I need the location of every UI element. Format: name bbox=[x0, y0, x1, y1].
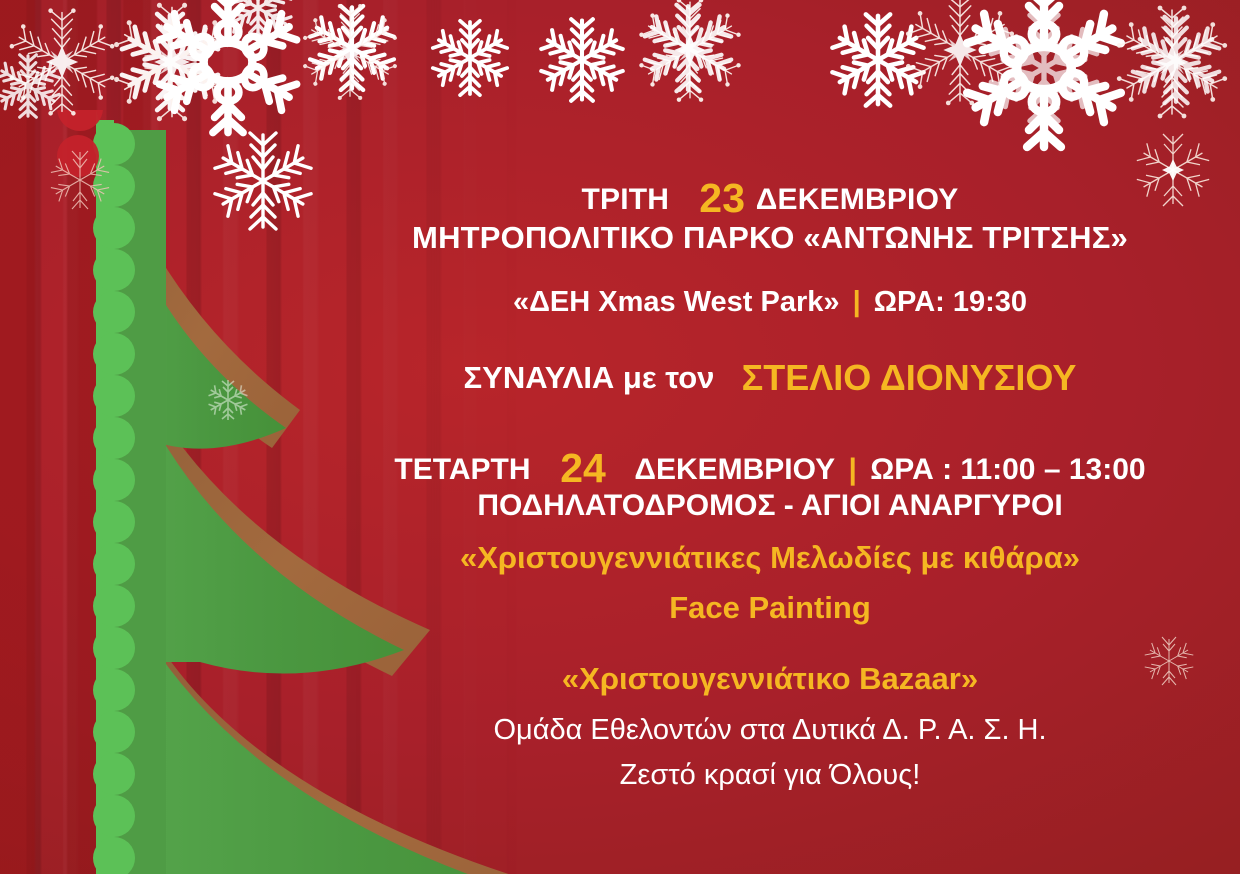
poster-text-block: ΤΡΙΤΗ 23 ΔΕΚΕΜΒΡΙΟΥ ΜΗΤΡΟΠΟΛΙΤΙΚΟ ΠΑΡΚΟ … bbox=[330, 0, 1210, 874]
event1-day-label: ΤΡΙΤΗ bbox=[582, 183, 670, 216]
snowflake-icon-tree-top bbox=[198, 126, 328, 241]
event1-separator: | bbox=[848, 286, 866, 318]
poster-canvas: ΤΡΙΤΗ 23 ΔΕΚΕΜΒΡΙΟΥ ΜΗΤΡΟΠΟΛΙΤΙΚΟ ΠΑΡΚΟ … bbox=[0, 0, 1240, 874]
event1-subvenue-line: «ΔΕΗ Xmas West Park» | ΩΡΑ: 19:30 bbox=[330, 288, 1210, 317]
event2-activity-melodies: «Χριστουγεννιάτικες Μελωδίες με κιθάρα» bbox=[330, 542, 1210, 573]
event2-day-label: ΤΕΤΑΡΤΗ bbox=[394, 453, 530, 486]
concert-artist: ΣΤΕΛΙΟ ΔΙΟΝΥΣΙΟΥ bbox=[742, 357, 1077, 398]
event3-title: «Χριστουγεννιάτικο Bazaar» bbox=[330, 663, 1210, 694]
event1-day-number: 23 bbox=[696, 175, 748, 221]
event3-note: Ζεστό κρασί για Όλους! bbox=[330, 761, 1210, 790]
event2-month: ΔΕΚΕΜΒΡΙΟΥ bbox=[634, 453, 835, 486]
event1-date-line: ΤΡΙΤΗ 23 ΔΕΚΕΜΒΡΙΟΥ bbox=[330, 178, 1210, 219]
event3-organizer: Ομάδα Εθελοντών στα Δυτικά Δ. Ρ. Α. Σ. Η… bbox=[330, 716, 1210, 745]
tree-snowflake-icon bbox=[208, 380, 249, 420]
event2-separator: | bbox=[844, 453, 862, 486]
concert-label: ΣΥΝΑΥΛΙΑ με τον bbox=[464, 360, 715, 395]
event2-date-line: ΤΕΤΑΡΤΗ 24 ΔΕΚΕΜΒΡΙΟΥ | ΩΡΑ : 11:00 – 13… bbox=[330, 448, 1210, 489]
tree-scallop-edge bbox=[93, 120, 135, 874]
event1-subvenue: «ΔΕΗ Xmas West Park» bbox=[513, 286, 840, 318]
event1-time: ΩΡΑ: 19:30 bbox=[874, 286, 1027, 318]
snowflake-icon-small-left bbox=[40, 145, 120, 220]
event1-concert-line: ΣΥΝΑΥΛΙΑ με τον ΣΤΕΛΙΟ ΔΙΟΝΥΣΙΟΥ bbox=[330, 360, 1210, 396]
event2-day-number: 24 bbox=[557, 445, 609, 491]
event2-activity-face-painting: Face Painting bbox=[330, 592, 1210, 623]
event2-time: ΩΡΑ : 11:00 – 13:00 bbox=[870, 453, 1145, 486]
event1-venue: ΜΗΤΡΟΠΟΛΙΤΙΚΟ ΠΑΡΚΟ «ΑΝΤΩΝΗΣ ΤΡΙΤΣΗΣ» bbox=[330, 222, 1210, 253]
event2-venue: ΠΟΔΗΛΑΤΟΔΡΟΜΟΣ - ΑΓΙΟΙ ΑΝΑΡΓΥΡΟΙ bbox=[330, 491, 1210, 521]
event1-month: ΔΕΚΕΜΒΡΙΟΥ bbox=[756, 183, 959, 216]
